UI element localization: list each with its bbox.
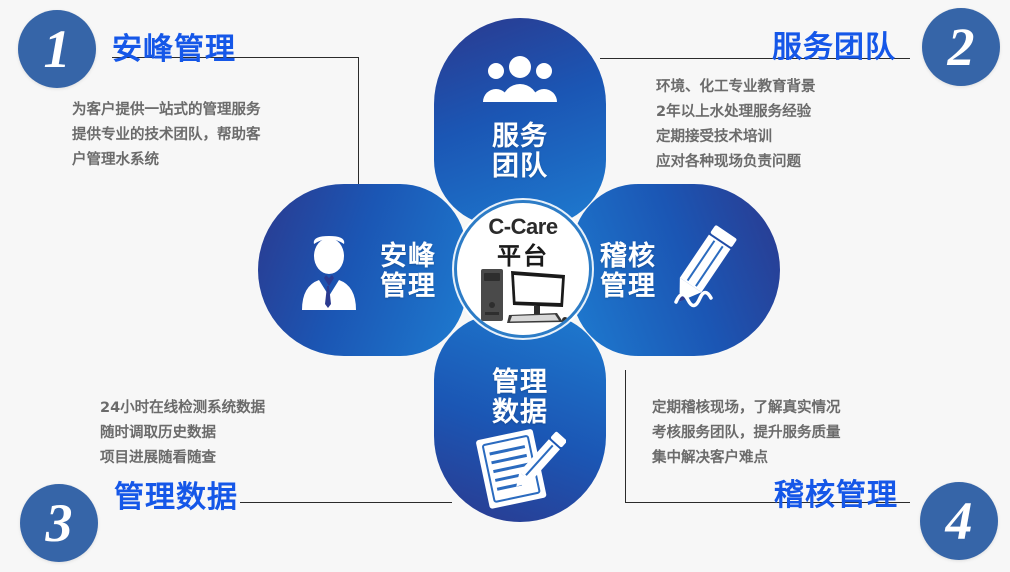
body-line: 项目进展随看随查 xyxy=(100,446,265,471)
section-heading-anfeng-management: 安峰管理 xyxy=(112,24,236,68)
pencil-icon xyxy=(670,224,742,316)
petal-diagram: 服务 团队 管理 数据 安峰 管理 稽核 管理 C-Care 平台 xyxy=(258,18,782,524)
petal-label-management-data: 管理 数据 xyxy=(434,368,606,428)
petal-label-audit-management: 稽核 管理 xyxy=(588,242,668,302)
clipboard-with-pen-icon xyxy=(474,424,566,510)
body-line: 随时调取历史数据 xyxy=(100,421,265,446)
petal-label-line: 团队 xyxy=(434,152,606,182)
businessman-icon xyxy=(298,236,360,312)
petal-label-line: 安峰 xyxy=(368,242,448,272)
center-hub-c-care-platform[interactable]: C-Care 平台 xyxy=(454,200,592,338)
petal-label-anfeng-management: 安峰 管理 xyxy=(368,242,448,302)
infographic-canvas: 1 2 3 4 安峰管理 服务团队 管理数据 稽核管理 为客户提供一站式的管理服… xyxy=(0,0,1010,572)
petal-label-line: 管理 xyxy=(368,272,448,302)
petal-label-line: 稽核 xyxy=(588,242,668,272)
petal-label-line: 管理 xyxy=(434,368,606,398)
badge-number-1: 1 xyxy=(18,10,96,88)
section-heading-management-data: 管理数据 xyxy=(114,472,238,516)
section-body-3: 24小时在线检测系统数据 随时调取历史数据 项目进展随看随查 xyxy=(100,396,265,471)
body-line: 24小时在线检测系统数据 xyxy=(100,396,265,421)
section-heading-audit-management: 稽核管理 xyxy=(774,470,898,514)
group-of-people-icon xyxy=(482,56,558,106)
body-line: 提供专业的技术团队，帮助客 xyxy=(72,123,261,148)
badge-number-2: 2 xyxy=(922,8,1000,86)
body-line: 为客户提供一站式的管理服务 xyxy=(72,98,261,123)
section-heading-service-team: 服务团队 xyxy=(772,22,896,66)
badge-number-3: 3 xyxy=(20,484,98,562)
body-line: 户管理水系统 xyxy=(72,148,261,173)
badge-number-4: 4 xyxy=(920,482,998,560)
petal-label-line: 管理 xyxy=(588,272,668,302)
section-body-1: 为客户提供一站式的管理服务 提供专业的技术团队，帮助客 户管理水系统 xyxy=(72,98,261,173)
desktop-computer-icon xyxy=(479,265,569,327)
petal-label-line: 数据 xyxy=(434,398,606,428)
petal-label-line: 服务 xyxy=(434,122,606,152)
petal-label-service-team: 服务 团队 xyxy=(434,122,606,182)
